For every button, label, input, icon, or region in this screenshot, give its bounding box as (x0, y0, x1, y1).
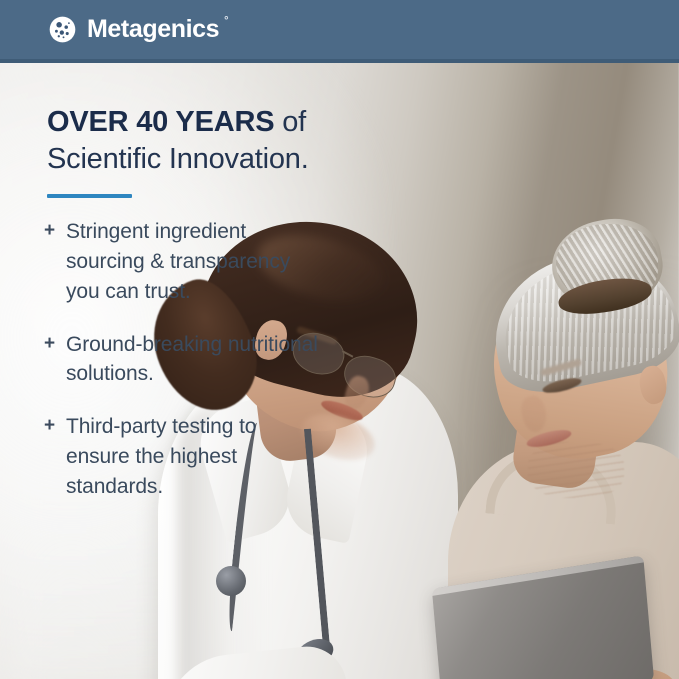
page-title: OVER 40 YEARS of Scientific Innovation. (47, 104, 377, 178)
list-item-label: Ground-breaking nutritional solutions. (66, 330, 319, 390)
patient-skin-texture (528, 442, 624, 498)
brand-header-bar: Metagenics° (0, 0, 679, 63)
brand-name-text: Metagenics (87, 15, 219, 43)
list-item: + Ground-breaking nutritional solutions. (44, 330, 319, 390)
list-item-label: Stringent ingredient sourcing & transpar… (66, 217, 319, 306)
plus-icon: + (44, 330, 66, 358)
brand-name: Metagenics° (87, 17, 219, 42)
plus-icon: + (44, 217, 66, 245)
promo-content: OVER 40 YEARS of Scientific Innovation. … (0, 63, 400, 525)
accent-divider (47, 194, 132, 198)
brand-logo[interactable]: Metagenics° (49, 16, 219, 43)
metagenics-promo-banner: Metagenics° OVER 40 YEARS of Scientific … (0, 0, 679, 679)
benefits-list: + Stringent ingredient sourcing & transp… (44, 217, 319, 502)
metagenics-cell-logo-icon (49, 16, 76, 43)
headline-connector: of (274, 106, 306, 138)
list-item: + Stringent ingredient sourcing & transp… (44, 217, 319, 306)
stethoscope-earpiece (216, 566, 246, 596)
list-item-label: Third-party testing to ensure the highes… (66, 412, 319, 501)
plus-icon: + (44, 412, 66, 440)
headline-emphasis: OVER 40 YEARS (47, 106, 274, 138)
registered-trademark-mark: ° (224, 16, 228, 27)
list-item: + Third-party testing to ensure the high… (44, 412, 319, 501)
headline-line-2: Scientific Innovation. (47, 143, 309, 175)
